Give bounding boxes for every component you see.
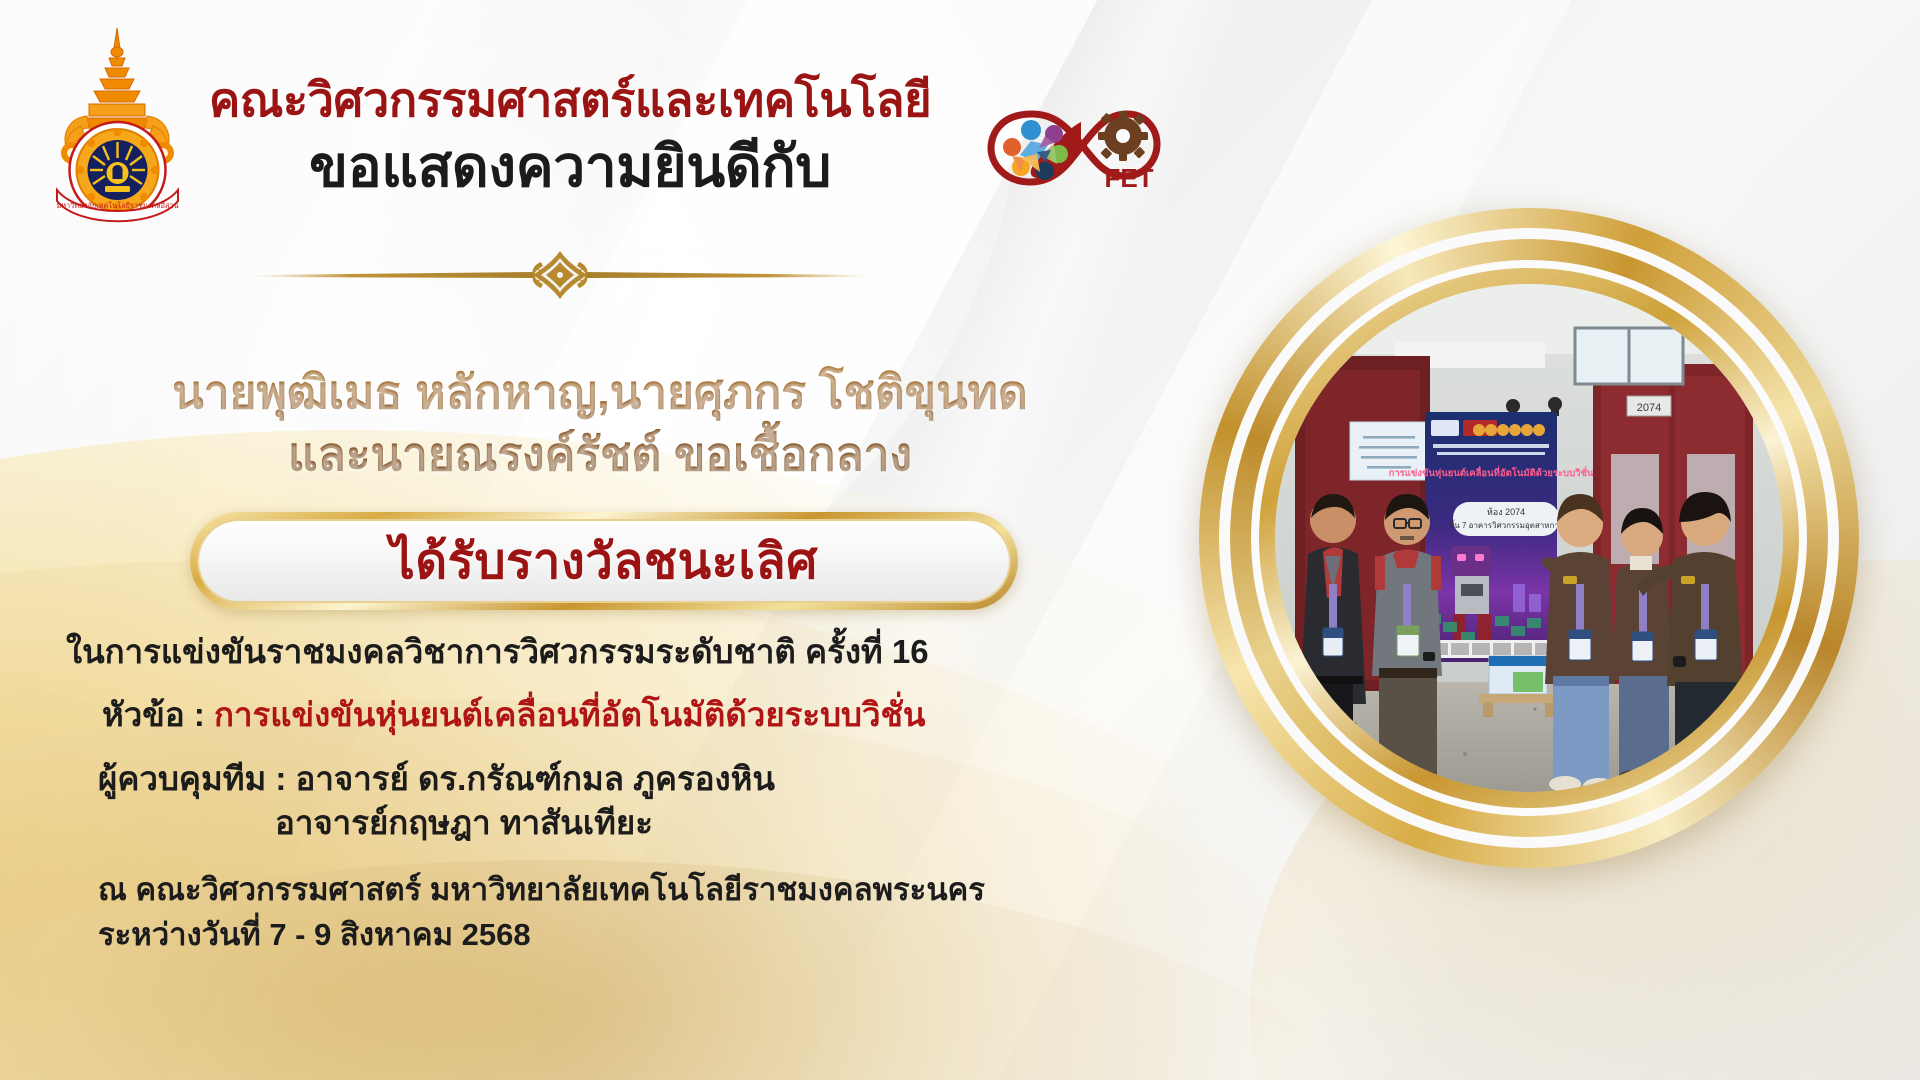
room-sign-label: ห้อง 2074	[1487, 507, 1525, 517]
advisor-line-1: ผู้ควบคุมทีม : อาจารย์ ดร.กรัณฑ์กมล ภูคร…	[98, 761, 1170, 797]
awardee-name-line-2: และนายณรงค์รัชต์ ขอเชื้อกลาง	[55, 424, 1145, 486]
fet-infinity-gear-logo-icon: FET	[985, 92, 1165, 202]
congratulations-title: ขอแสดงความยินดีกับ	[150, 122, 990, 212]
advisor-line-2: อาจารย์กฤษฎา ทาสันเทียะ	[275, 805, 1170, 841]
detail-block: ในการแข่งขันราชมงคลวิชาการวิศวกรรมระดับช…	[60, 634, 1170, 952]
venue-line: ณ คณะวิศวกรรมศาสตร์ มหาวิทยาลัยเทคโนโลยี…	[98, 873, 1170, 907]
photo-banner-title: การแข่งขันหุ่นยนต์เคลื่อนที่อัตโนมัติด้ว…	[1389, 465, 1594, 479]
award-banner-text: ได้รับรางวัลชนะเลิศ	[390, 522, 818, 600]
room-sign-sublabel: ชั้น 7 อาคารวิศวกรรมอุตสาหการ	[1449, 519, 1564, 530]
award-banner: ได้รับรางวัลชนะเลิศ	[190, 512, 1018, 610]
awardee-names: นายพุฒิเมธ หลักหาญ,นายศุภกร โชติขุนทด แล…	[55, 362, 1145, 485]
award-banner-inner: ได้รับรางวัลชนะเลิศ	[197, 519, 1011, 603]
fet-logo-text: FET	[1104, 163, 1153, 193]
congratulation-poster: มหาวิทยาลัยเทคโนโลยีราชมงคลอีสาน คณะวิศว…	[0, 0, 1920, 1080]
dates-line: ระหว่างวันที่ 7 - 9 สิงหาคม 2568	[98, 918, 1170, 952]
topic-line: หัวข้อ : การแข่งขันหุ่นยนต์เคลื่อนที่อัต…	[102, 697, 1170, 733]
door-number-label: 2074	[1637, 402, 1661, 414]
awardee-name-line-1: นายพุฒิเมธ หลักหาญ,นายศุภกร โชติขุนทด	[55, 362, 1145, 424]
team-group-photo: 2074 การแข่งขันหุ่นยนต์เคลื่อนที่อัตโ	[1275, 284, 1783, 792]
gold-ornament-divider-icon	[215, 248, 905, 304]
topic-value: การแข่งขันหุ่นยนต์เคลื่อนที่อัตโนมัติด้ว…	[214, 696, 925, 733]
team-photo-frame: 2074 การแข่งขันหุ่นยนต์เคลื่อนที่อัตโ	[1199, 208, 1859, 868]
competition-line: ในการแข่งขันราชมงคลวิชาการวิศวกรรมระดับช…	[66, 634, 1170, 670]
topic-label: หัวข้อ :	[102, 696, 214, 733]
